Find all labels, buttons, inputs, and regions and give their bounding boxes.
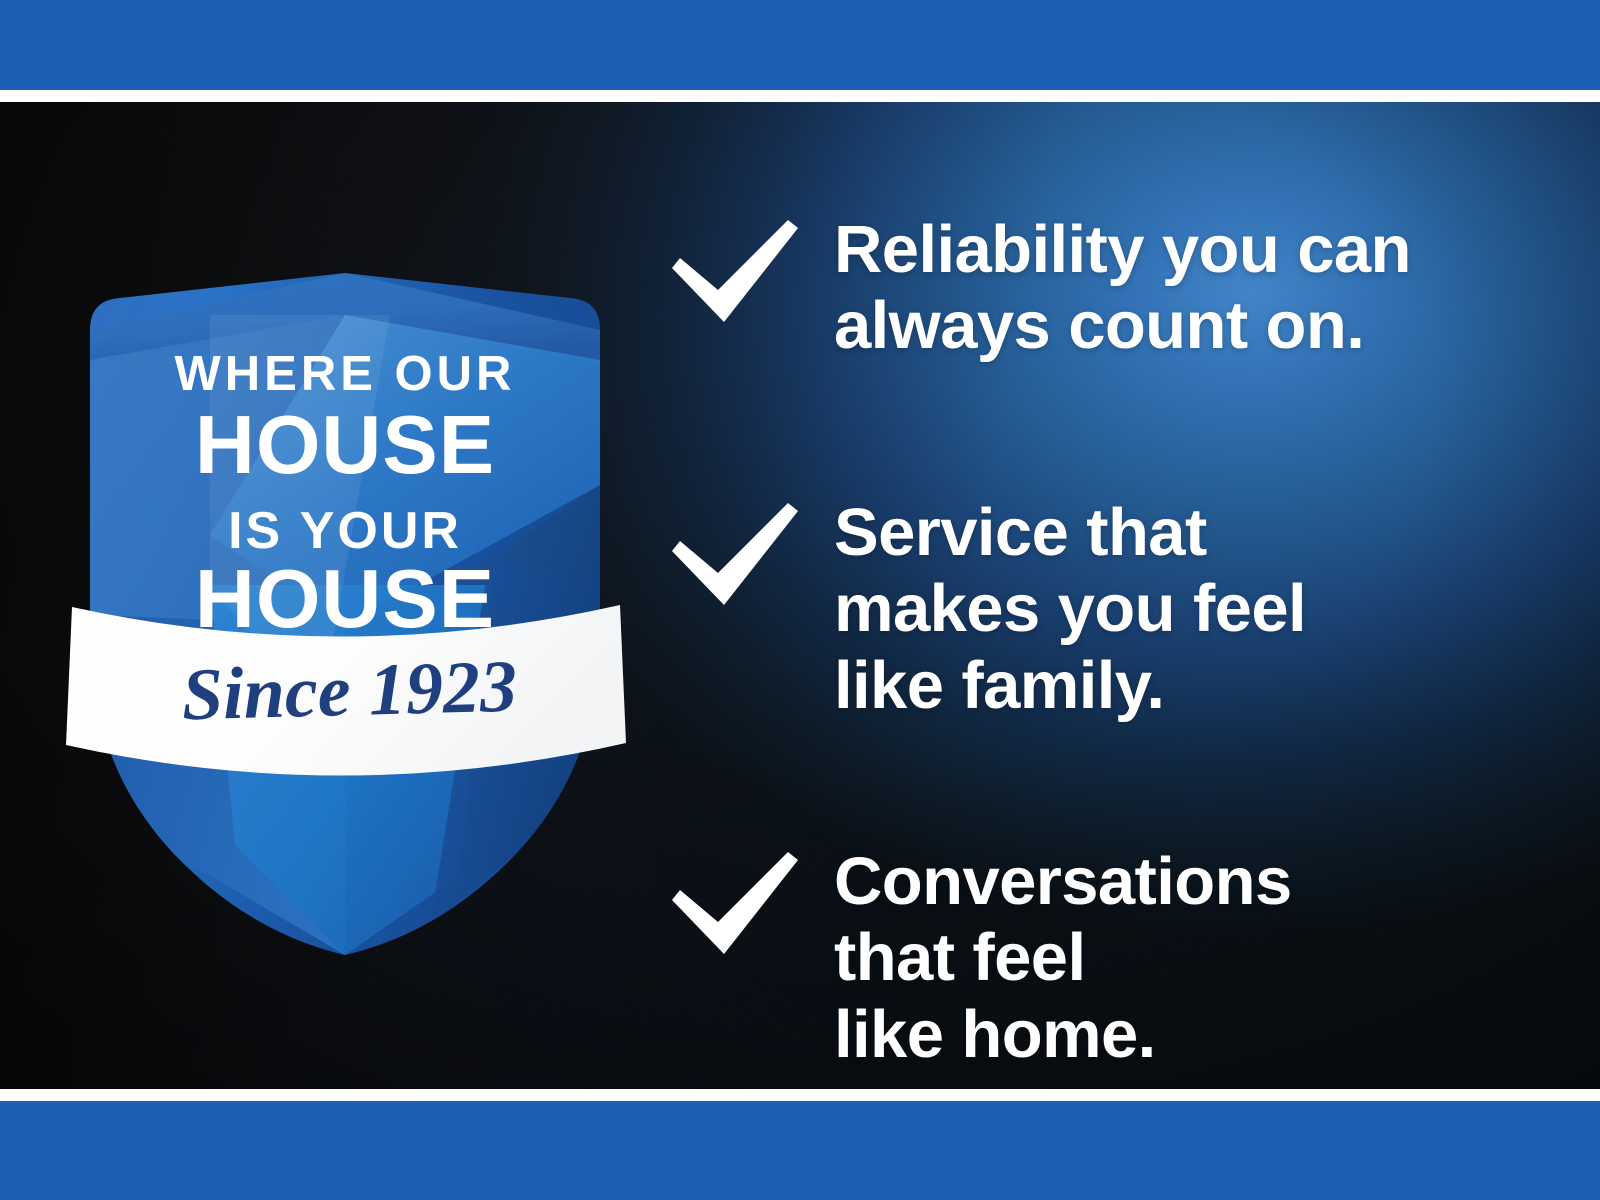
benefit-item-3: Conversations that feel like home. [666,844,1566,1073]
checkmark-icon [666,218,802,330]
since-banner-text: Since 1923 [181,646,518,737]
checkmark-icon [666,501,802,613]
bottom-divider [0,1089,1600,1101]
shield-line-4: HOUSE [195,552,495,645]
checkmark-icon [666,850,802,962]
benefit-text-2: Service that makes you feel like family. [834,495,1306,724]
bottom-brand-bar [0,1101,1600,1200]
shield-line-2: HOUSE [195,398,495,491]
benefit-text-1: Reliability you can always count on. [834,212,1411,365]
top-brand-bar [0,0,1600,90]
benefit-item-1: Reliability you can always count on. [666,212,1566,365]
top-divider [0,90,1600,102]
promo-graphic: WHERE OUR HOUSE IS YOUR HOUSE Since 1923… [0,0,1600,1200]
benefit-item-2: Service that makes you feel like family. [666,495,1566,724]
benefits-list: Reliability you can always count on. Ser… [666,110,1566,1073]
shield-line-1: WHERE OUR [175,347,516,401]
shield-logo: WHERE OUR HOUSE IS YOUR HOUSE Since 1923 [60,155,630,965]
benefit-text-3: Conversations that feel like home. [834,844,1292,1073]
